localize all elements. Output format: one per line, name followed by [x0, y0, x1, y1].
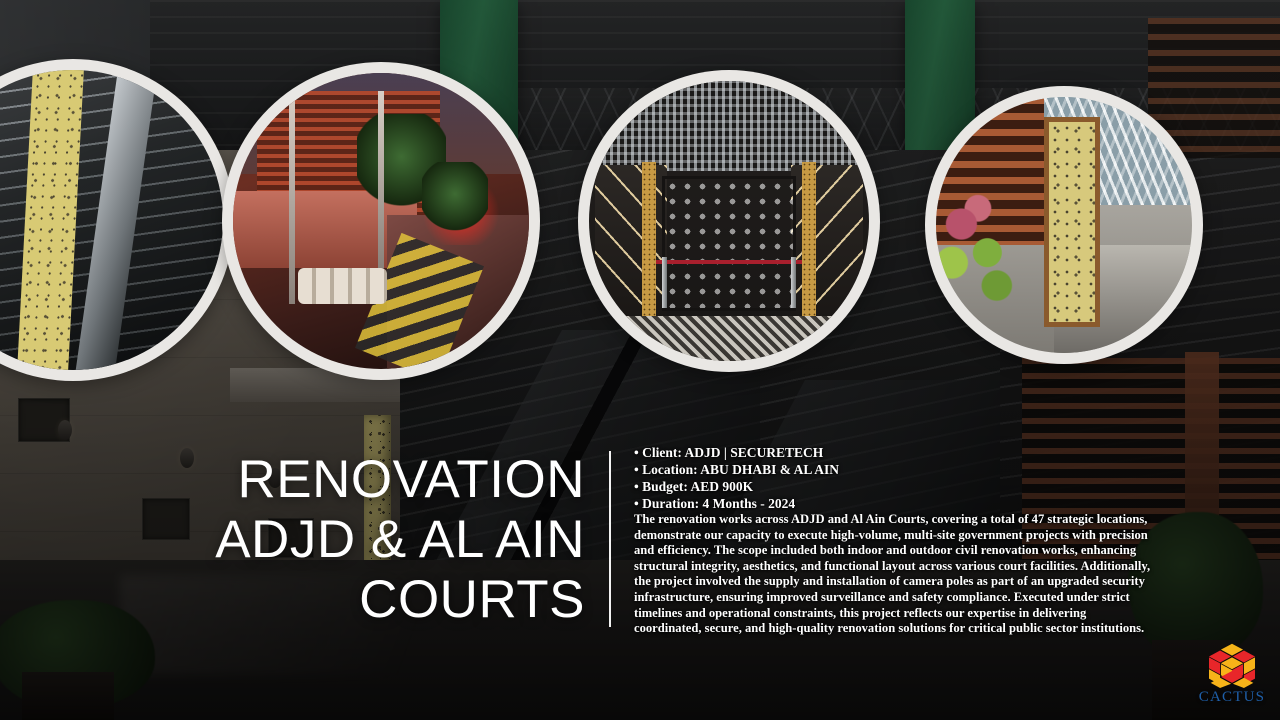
project-facts-list: Client: ADJD | SECURETECH Location: ABU … [634, 444, 1174, 512]
photo-frame [233, 73, 529, 369]
gallery-circle-atrium [925, 86, 1203, 364]
gallery-circle-escalator-steps [0, 59, 234, 381]
title-line-3: COURTS [120, 570, 585, 630]
presentation-slide: RENOVATION ADJD & AL AIN COURTS Client: … [0, 0, 1280, 720]
slide-title: RENOVATION ADJD & AL AIN COURTS [120, 450, 585, 630]
perforated-ceiling [589, 81, 869, 171]
sandbags [298, 268, 387, 304]
photo-frame [589, 81, 869, 361]
cactus-logo: CACTUS [1196, 642, 1268, 710]
escalator-rail-detail [74, 70, 159, 370]
gallery-circle-night-construction [222, 62, 540, 380]
left-lit-wall [595, 165, 668, 319]
fact-budget: Budget: AED 900K [634, 478, 1174, 495]
photo-escalator-steps [0, 70, 223, 370]
photo-night-construction [233, 73, 529, 369]
camera-pole [378, 91, 384, 269]
cactus-wordmark: CACTUS [1196, 689, 1268, 706]
photo-atrium-interior [936, 97, 1192, 353]
gallery-circle-judicial-entrance [578, 70, 880, 372]
gold-mashrabiya-right [802, 162, 816, 322]
title-line-2: ADJD & AL AIN [120, 510, 585, 570]
glass-entrance-panel [662, 176, 796, 310]
vertical-divider [609, 451, 611, 627]
title-line-1: RENOVATION [120, 450, 585, 510]
photo-frame [0, 70, 223, 370]
red-rope-barrier [656, 260, 802, 264]
tree [422, 162, 487, 233]
project-description: The renovation works across ADJD and Al … [634, 512, 1152, 637]
barrier-post [791, 257, 796, 307]
photo-frame [936, 97, 1192, 353]
cactus-cube-icon [1204, 642, 1260, 688]
fact-location: Location: ABU DHABI & AL AIN [634, 461, 1174, 478]
camera-pole [289, 91, 295, 304]
photo-judicial-department-entrance [589, 81, 869, 361]
fact-client: Client: ADJD | SECURETECH [634, 444, 1174, 461]
interior-planting [936, 174, 1044, 317]
patterned-floor [589, 316, 869, 361]
terrazzo-feature-column [1044, 117, 1100, 327]
gold-mashrabiya-left [642, 162, 656, 322]
fact-duration: Duration: 4 Months - 2024 [634, 495, 1174, 512]
barrier-post [662, 257, 667, 307]
